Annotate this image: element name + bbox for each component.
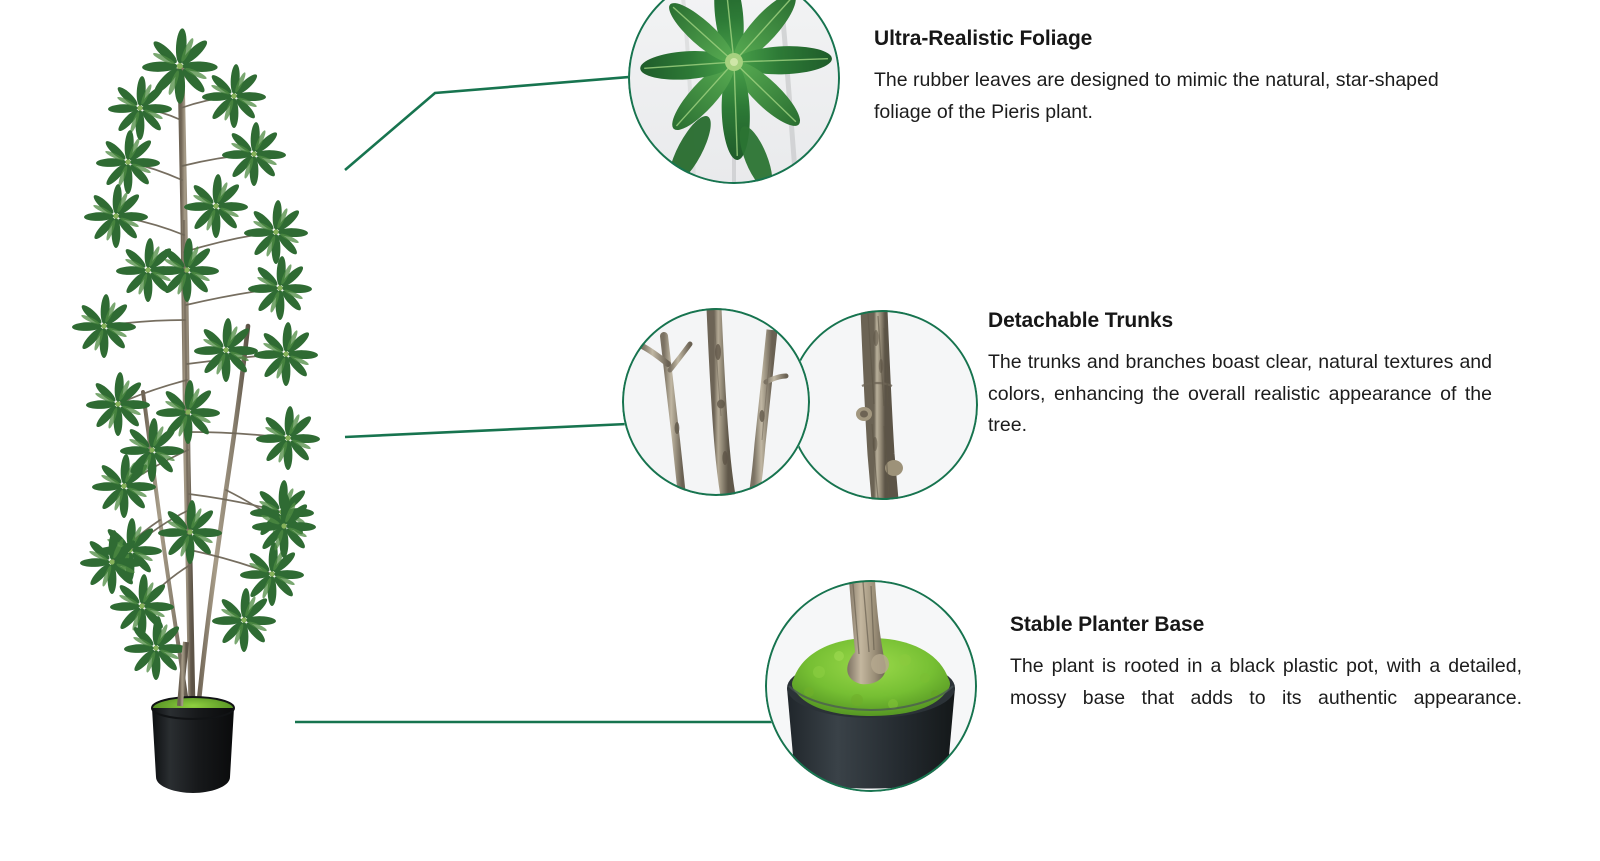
connector-trunks xyxy=(345,424,627,437)
connector-foliage xyxy=(345,76,641,170)
feature-block-foliage: Ultra-Realistic Foliage The rubber leave… xyxy=(874,26,1474,128)
feature-body-foliage: The rubber leaves are designed to mimic … xyxy=(874,65,1474,128)
planter-base-image xyxy=(765,580,977,792)
callout-trunks-right xyxy=(788,310,978,500)
feature-body-trunks: The trunks and branches boast clear, nat… xyxy=(988,347,1492,473)
feature-block-planter: Stable Planter Base The plant is rooted … xyxy=(1010,612,1522,746)
feature-heading-foliage: Ultra-Realistic Foliage xyxy=(874,26,1474,51)
foliage-closeup-image xyxy=(628,0,840,184)
callout-trunks-left xyxy=(622,308,810,496)
feature-block-trunks: Detachable Trunks The trunks and branche… xyxy=(988,308,1492,474)
hero-plant-image xyxy=(30,20,350,800)
trunk-branches-image xyxy=(622,308,810,496)
feature-body-planter: The plant is rooted in a black plastic p… xyxy=(1010,651,1522,746)
infographic-canvas: Ultra-Realistic Foliage The rubber leave… xyxy=(0,0,1600,861)
callout-planter xyxy=(765,580,977,792)
callout-foliage xyxy=(628,0,840,184)
trunk-texture-image xyxy=(788,310,978,500)
feature-heading-trunks: Detachable Trunks xyxy=(988,308,1492,333)
feature-heading-planter: Stable Planter Base xyxy=(1010,612,1522,637)
